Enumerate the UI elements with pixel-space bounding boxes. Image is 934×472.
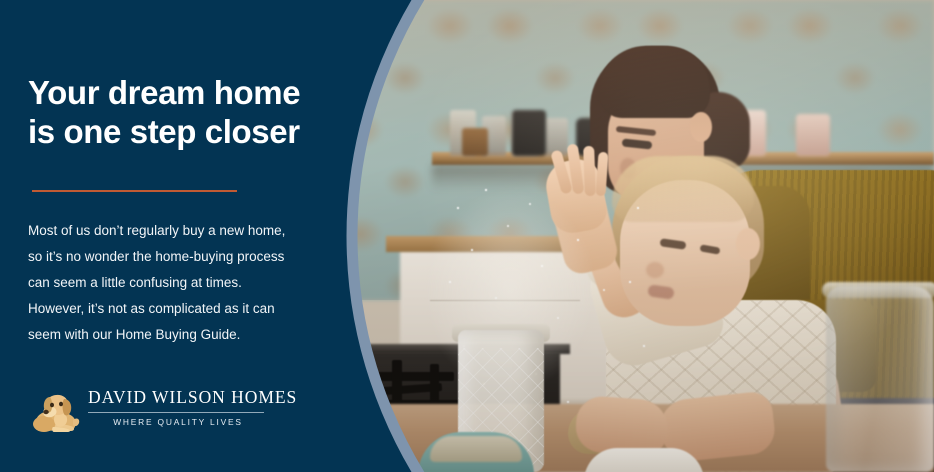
marketing-banner: Your dream home is one step closer Most … — [0, 0, 934, 472]
toddler-ear — [736, 228, 760, 260]
page-title: Your dream home is one step closer — [28, 74, 348, 152]
logo-name: DAVID WILSON HOMES — [88, 388, 268, 407]
brand-logo[interactable]: DAVID WILSON HOMES WHERE QUALITY LIVES — [26, 380, 266, 442]
hob-grate — [392, 360, 402, 404]
headline-line-1: Your dream home — [28, 74, 348, 113]
pink-canister-2 — [796, 114, 830, 156]
logo-tagline: WHERE QUALITY LIVES — [88, 417, 268, 427]
glass-jug — [826, 286, 934, 472]
white-bowl — [584, 448, 704, 472]
dark-pot — [512, 110, 546, 156]
headline-line-2: is one step closer — [28, 113, 348, 152]
mother-ear — [690, 112, 712, 142]
accent-divider — [32, 190, 237, 192]
teal-bowl-contents — [430, 436, 522, 462]
logo-divider-rule — [88, 412, 264, 413]
logo-wordmark: DAVID WILSON HOMES WHERE QUALITY LIVES — [88, 388, 268, 427]
mother-hair-front — [598, 46, 710, 118]
amber-jar — [462, 128, 488, 156]
golden-retriever-dog-icon — [26, 382, 80, 438]
body-paragraph: Most of us don’t regularly buy a new hom… — [28, 218, 296, 348]
left-content-panel: Your dream home is one step closer Most … — [0, 0, 360, 472]
